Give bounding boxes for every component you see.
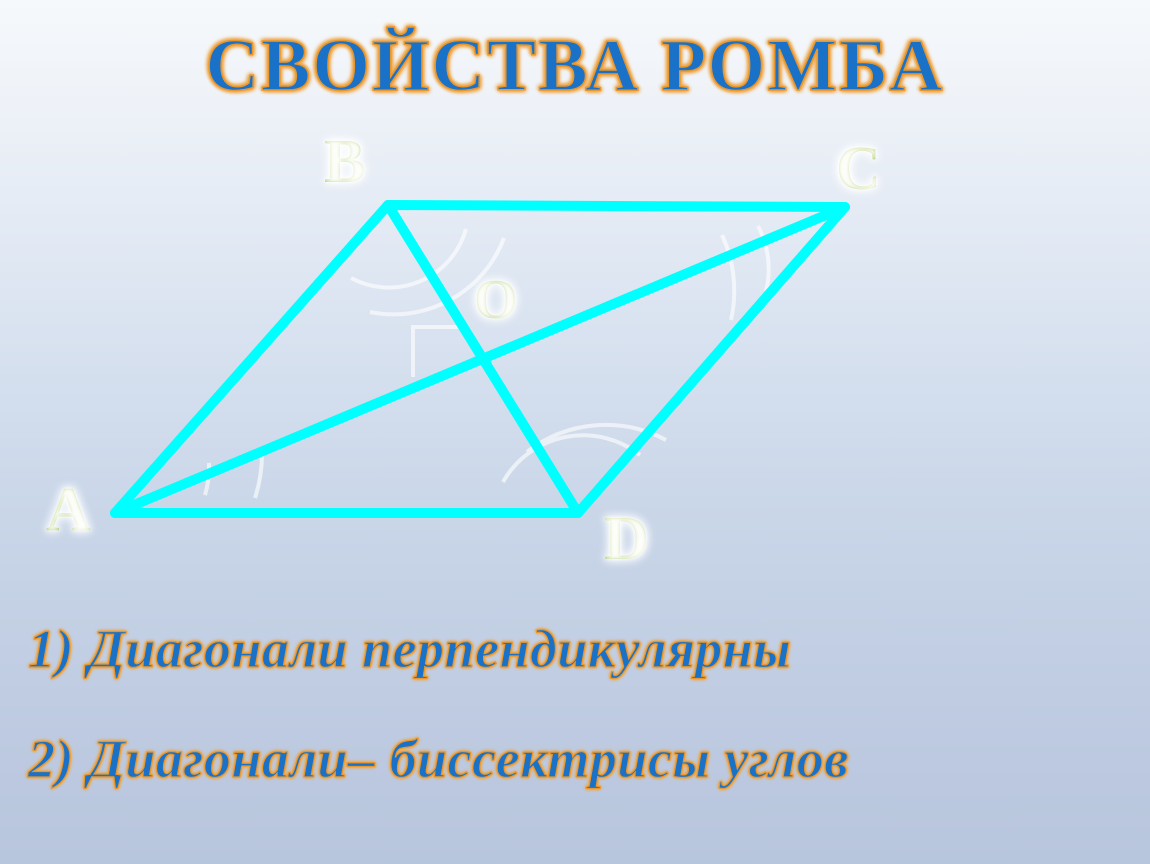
- vertex-label-a: A: [46, 479, 91, 541]
- property-line-1: 1) Диагонали перпендикулярны: [28, 618, 791, 680]
- intersection-label-o: O: [474, 272, 518, 328]
- rhombus-svg: [0, 0, 1150, 620]
- vertex-label-b: B: [324, 131, 365, 193]
- vertex-label-d: D: [604, 508, 649, 570]
- angle-arc-c-2: [722, 235, 734, 320]
- rhombus-diagonals: [115, 205, 845, 513]
- diagonal-bd: [388, 205, 578, 513]
- slide-canvas: СВОЙСТВА РОМБА: [0, 0, 1150, 864]
- rhombus-figure: B C A D O: [0, 0, 1150, 620]
- property-line-2: 2) Диагонали– биссектрисы углов: [28, 728, 849, 790]
- vertex-label-c: C: [836, 138, 881, 200]
